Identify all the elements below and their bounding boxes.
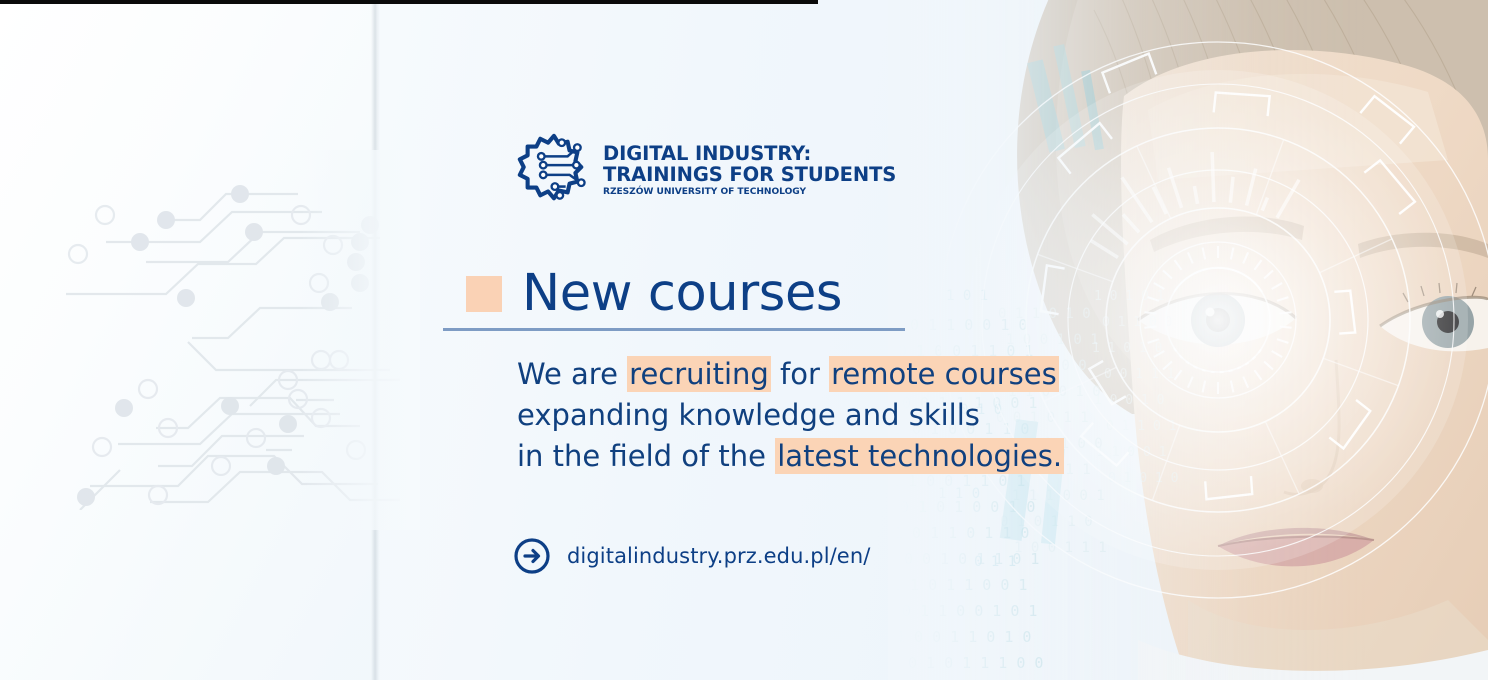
- body-line-1: We are recruiting for remote courses: [517, 354, 1064, 395]
- headline-bullet-square: [466, 276, 502, 312]
- body-l3-highlight-latest-technologies: latest technologies.: [775, 438, 1064, 474]
- headline: New courses: [466, 266, 842, 322]
- project-logo: DIGITAL INDUSTRY: TRAININGS FOR STUDENTS…: [511, 131, 896, 209]
- body-l1-highlight-recruiting: recruiting: [627, 356, 771, 392]
- page-title: New courses: [522, 266, 842, 322]
- body-l1-part1: We are: [517, 357, 627, 391]
- logo-line-1: DIGITAL INDUSTRY:: [603, 143, 896, 164]
- body-line-2: expanding knowledge and skills: [517, 395, 1064, 436]
- promo-banner: 1 0 1 1 0 0 1 0 0 1 0 0 1 1 0 1 1 1 0 1 …: [0, 0, 1488, 680]
- body-l1-highlight-remote-courses: remote courses: [829, 356, 1059, 392]
- website-link[interactable]: digitalindustry.prz.edu.pl/en/: [513, 537, 870, 575]
- logo-subtitle: RZESZÓW UNIVERSITY OF TECHNOLOGY: [603, 186, 896, 199]
- gear-circuit-logo-icon: [511, 131, 593, 209]
- logo-line-2: TRAININGS FOR STUDENTS: [603, 164, 896, 185]
- arrow-right-circle-icon[interactable]: [513, 537, 551, 575]
- body-line-3: in the field of the latest technologies.: [517, 436, 1064, 477]
- logo-text-block: DIGITAL INDUSTRY: TRAININGS FOR STUDENTS…: [603, 141, 896, 199]
- body-copy: We are recruiting for remote courses exp…: [517, 354, 1064, 477]
- body-l1-part2: for: [771, 357, 829, 391]
- circuit-pattern: [60, 170, 410, 510]
- content-column: DIGITAL INDUSTRY: TRAININGS FOR STUDENTS…: [443, 0, 1143, 680]
- body-l2-part1: expanding knowledge and skills: [517, 398, 980, 432]
- headline-divider: [443, 328, 905, 331]
- website-url-text[interactable]: digitalindustry.prz.edu.pl/en/: [567, 544, 870, 568]
- body-l3-part1: in the field of the: [517, 439, 775, 473]
